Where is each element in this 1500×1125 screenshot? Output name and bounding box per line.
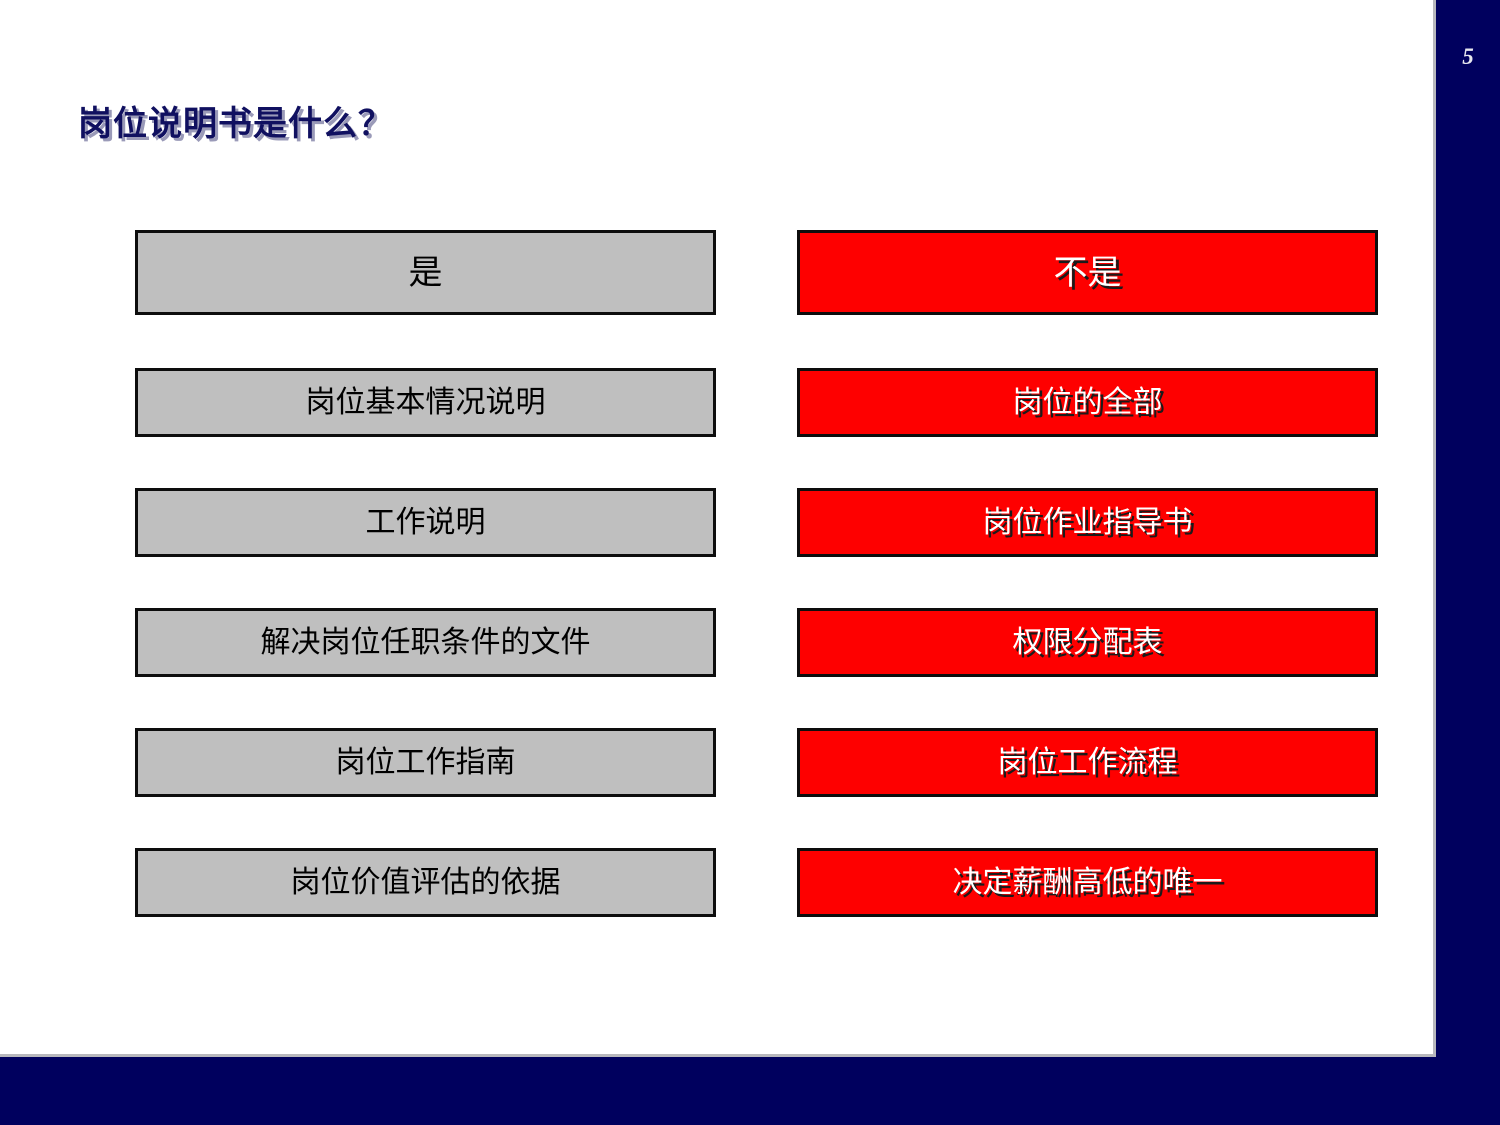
list-item[interactable]: 解决岗位任职条件的文件 xyxy=(135,608,716,677)
list-item[interactable]: 权限分配表 xyxy=(797,608,1378,677)
box-label: 岗位价值评估的依据 xyxy=(281,868,571,898)
comparison-columns: 是 岗位基本情况说明 工作说明 解决岗位任职条件的文件 岗位工作指南 岗位价值评… xyxy=(0,0,1500,1125)
box-label: 岗位工作指南 xyxy=(326,748,526,778)
list-item[interactable]: 工作说明 xyxy=(135,488,716,557)
column-is-not-header-label: 不是 xyxy=(1044,256,1132,290)
column-is-header-label: 是 xyxy=(399,256,453,290)
column-is-header: 是 xyxy=(135,230,716,315)
list-item[interactable]: 决定薪酬高低的唯一 xyxy=(797,848,1378,917)
column-is: 是 岗位基本情况说明 工作说明 解决岗位任职条件的文件 岗位工作指南 岗位价值评… xyxy=(135,230,716,917)
column-is-not-header: 不是 xyxy=(797,230,1378,315)
list-item[interactable]: 岗位工作指南 xyxy=(135,728,716,797)
list-item[interactable]: 岗位的全部 xyxy=(797,368,1378,437)
box-label: 工作说明 xyxy=(356,508,496,538)
box-label: 岗位的全部 xyxy=(1003,388,1173,418)
list-item[interactable]: 岗位基本情况说明 xyxy=(135,368,716,437)
box-label: 岗位工作流程 xyxy=(988,748,1188,778)
list-item[interactable]: 岗位作业指导书 xyxy=(797,488,1378,557)
box-label: 解决岗位任职条件的文件 xyxy=(251,628,601,658)
box-label: 岗位作业指导书 xyxy=(973,508,1203,538)
list-item[interactable]: 岗位价值评估的依据 xyxy=(135,848,716,917)
box-label: 权限分配表 xyxy=(1003,628,1173,658)
list-item[interactable]: 岗位工作流程 xyxy=(797,728,1378,797)
column-is-not: 不是 岗位的全部 岗位作业指导书 权限分配表 岗位工作流程 决定薪酬高低的唯一 xyxy=(797,230,1378,917)
box-label: 决定薪酬高低的唯一 xyxy=(943,868,1233,898)
box-label: 岗位基本情况说明 xyxy=(296,388,556,418)
slide-canvas: 5 岗位说明书是什么？ 是 岗位基本情况说明 工作说明 解决岗位任职条件的文件 … xyxy=(0,0,1500,1125)
